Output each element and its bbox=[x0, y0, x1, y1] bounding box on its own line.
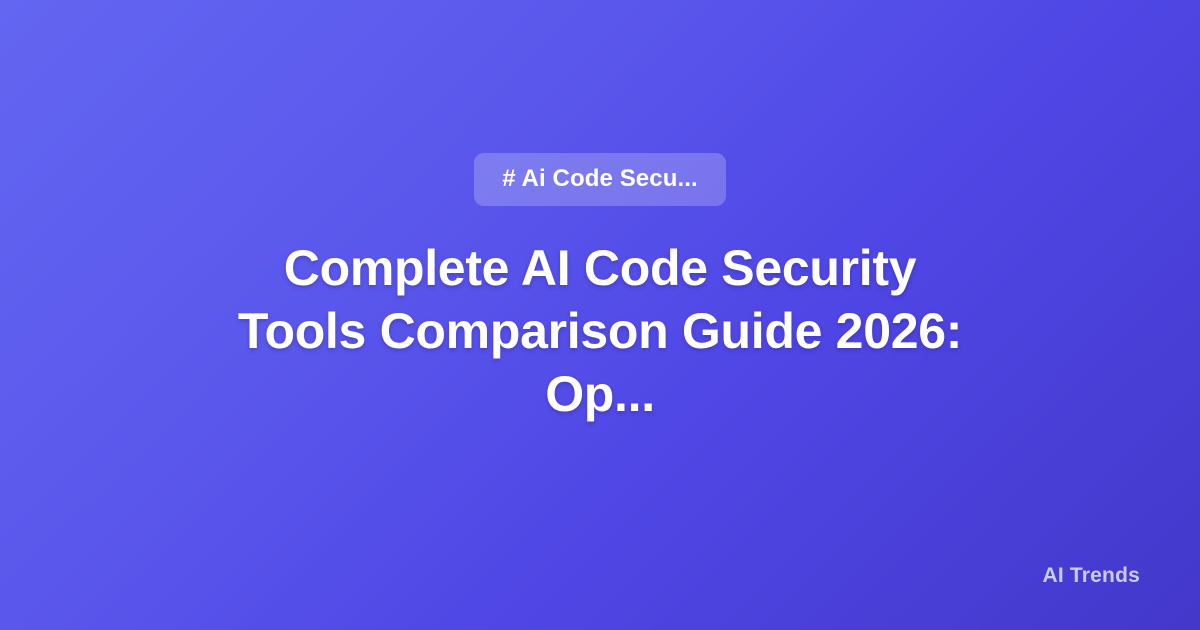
og-card: # Ai Code Secu... Complete AI Code Secur… bbox=[0, 0, 1200, 630]
category-badge-label: # Ai Code Secu... bbox=[502, 167, 698, 191]
category-badge[interactable]: # Ai Code Secu... bbox=[474, 153, 726, 206]
brand-label: AI Trends bbox=[1043, 565, 1141, 586]
page-title: Complete AI Code Security Tools Comparis… bbox=[220, 237, 980, 426]
card-center-stack: # Ai Code Secu... Complete AI Code Secur… bbox=[0, 0, 1200, 630]
